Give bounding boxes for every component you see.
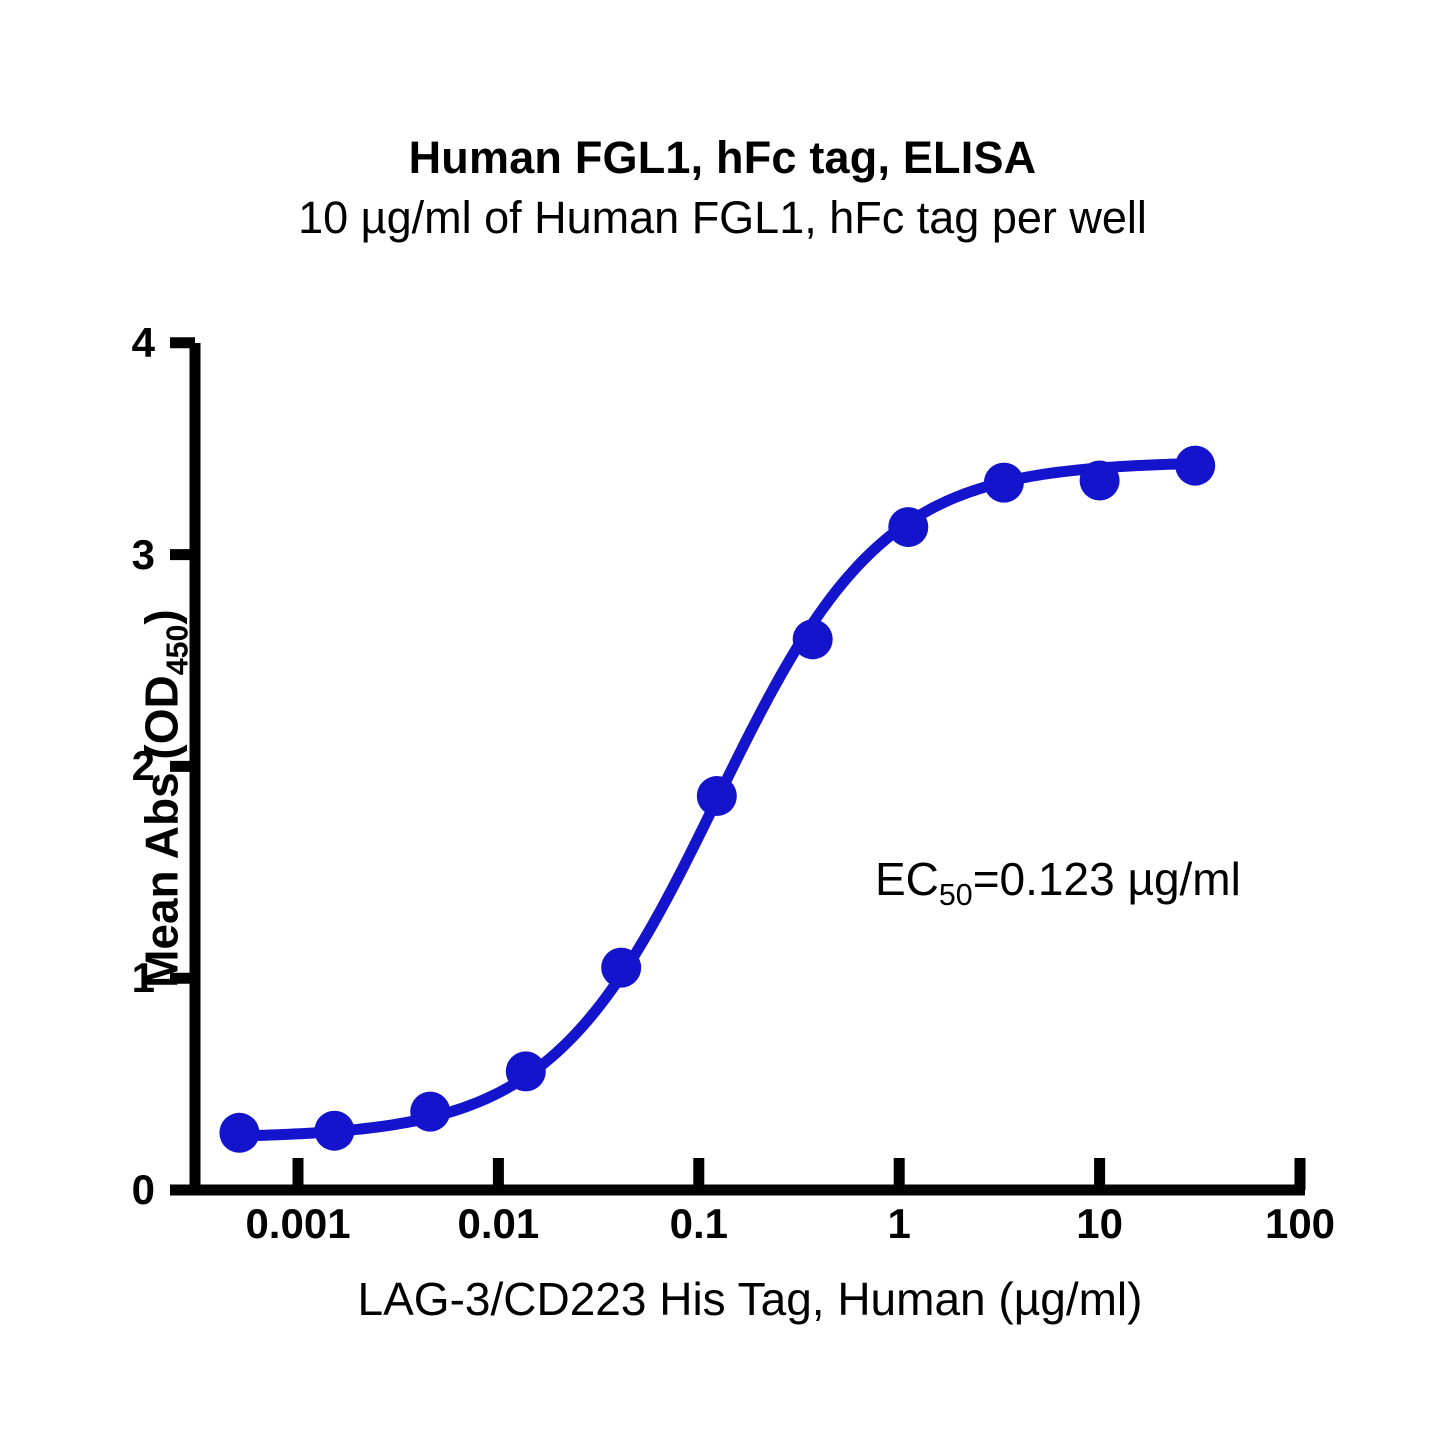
ec50-annotation-prefix: EC: [875, 853, 939, 905]
data-point: [984, 463, 1024, 503]
y-axis-label-suffix: ): [135, 609, 187, 624]
y-axis-label-subscript: 450: [162, 625, 195, 676]
y-axis-label-text: Mean Abs.(OD: [135, 675, 187, 988]
ec50-annotation-value: =0.123 µg/ml: [973, 853, 1241, 905]
data-point-markers: [219, 446, 1215, 1153]
x-tick-label: 0.001: [245, 1200, 350, 1248]
data-series: [219, 446, 1215, 1153]
x-tick-label: 0.01: [458, 1200, 540, 1248]
x-tick-label: 1: [888, 1200, 911, 1248]
ec50-annotation: EC50=0.123 µg/ml: [875, 852, 1241, 913]
x-tick-label: 10: [1076, 1200, 1123, 1248]
x-tick-label: 0.1: [670, 1200, 728, 1248]
data-point: [697, 776, 737, 816]
x-tick-label: 100: [1265, 1200, 1335, 1248]
y-axis-label: Mean Abs.(OD450): [134, 369, 195, 1229]
chart-figure: Human FGL1, hFc tag, ELISA 10 µg/ml of H…: [0, 0, 1445, 1445]
data-point: [601, 948, 641, 988]
y-tick-label: 4: [95, 319, 155, 367]
data-point: [410, 1092, 450, 1132]
x-axis-label: LAG-3/CD223 His Tag, Human (µg/ml): [195, 1272, 1305, 1326]
data-point: [219, 1113, 259, 1153]
data-point: [1080, 460, 1120, 500]
data-point: [314, 1111, 354, 1151]
data-point: [1175, 446, 1215, 486]
data-point: [506, 1051, 546, 1091]
data-point: [888, 507, 928, 547]
data-point: [793, 619, 833, 659]
ec50-annotation-subscript: 50: [939, 879, 973, 912]
